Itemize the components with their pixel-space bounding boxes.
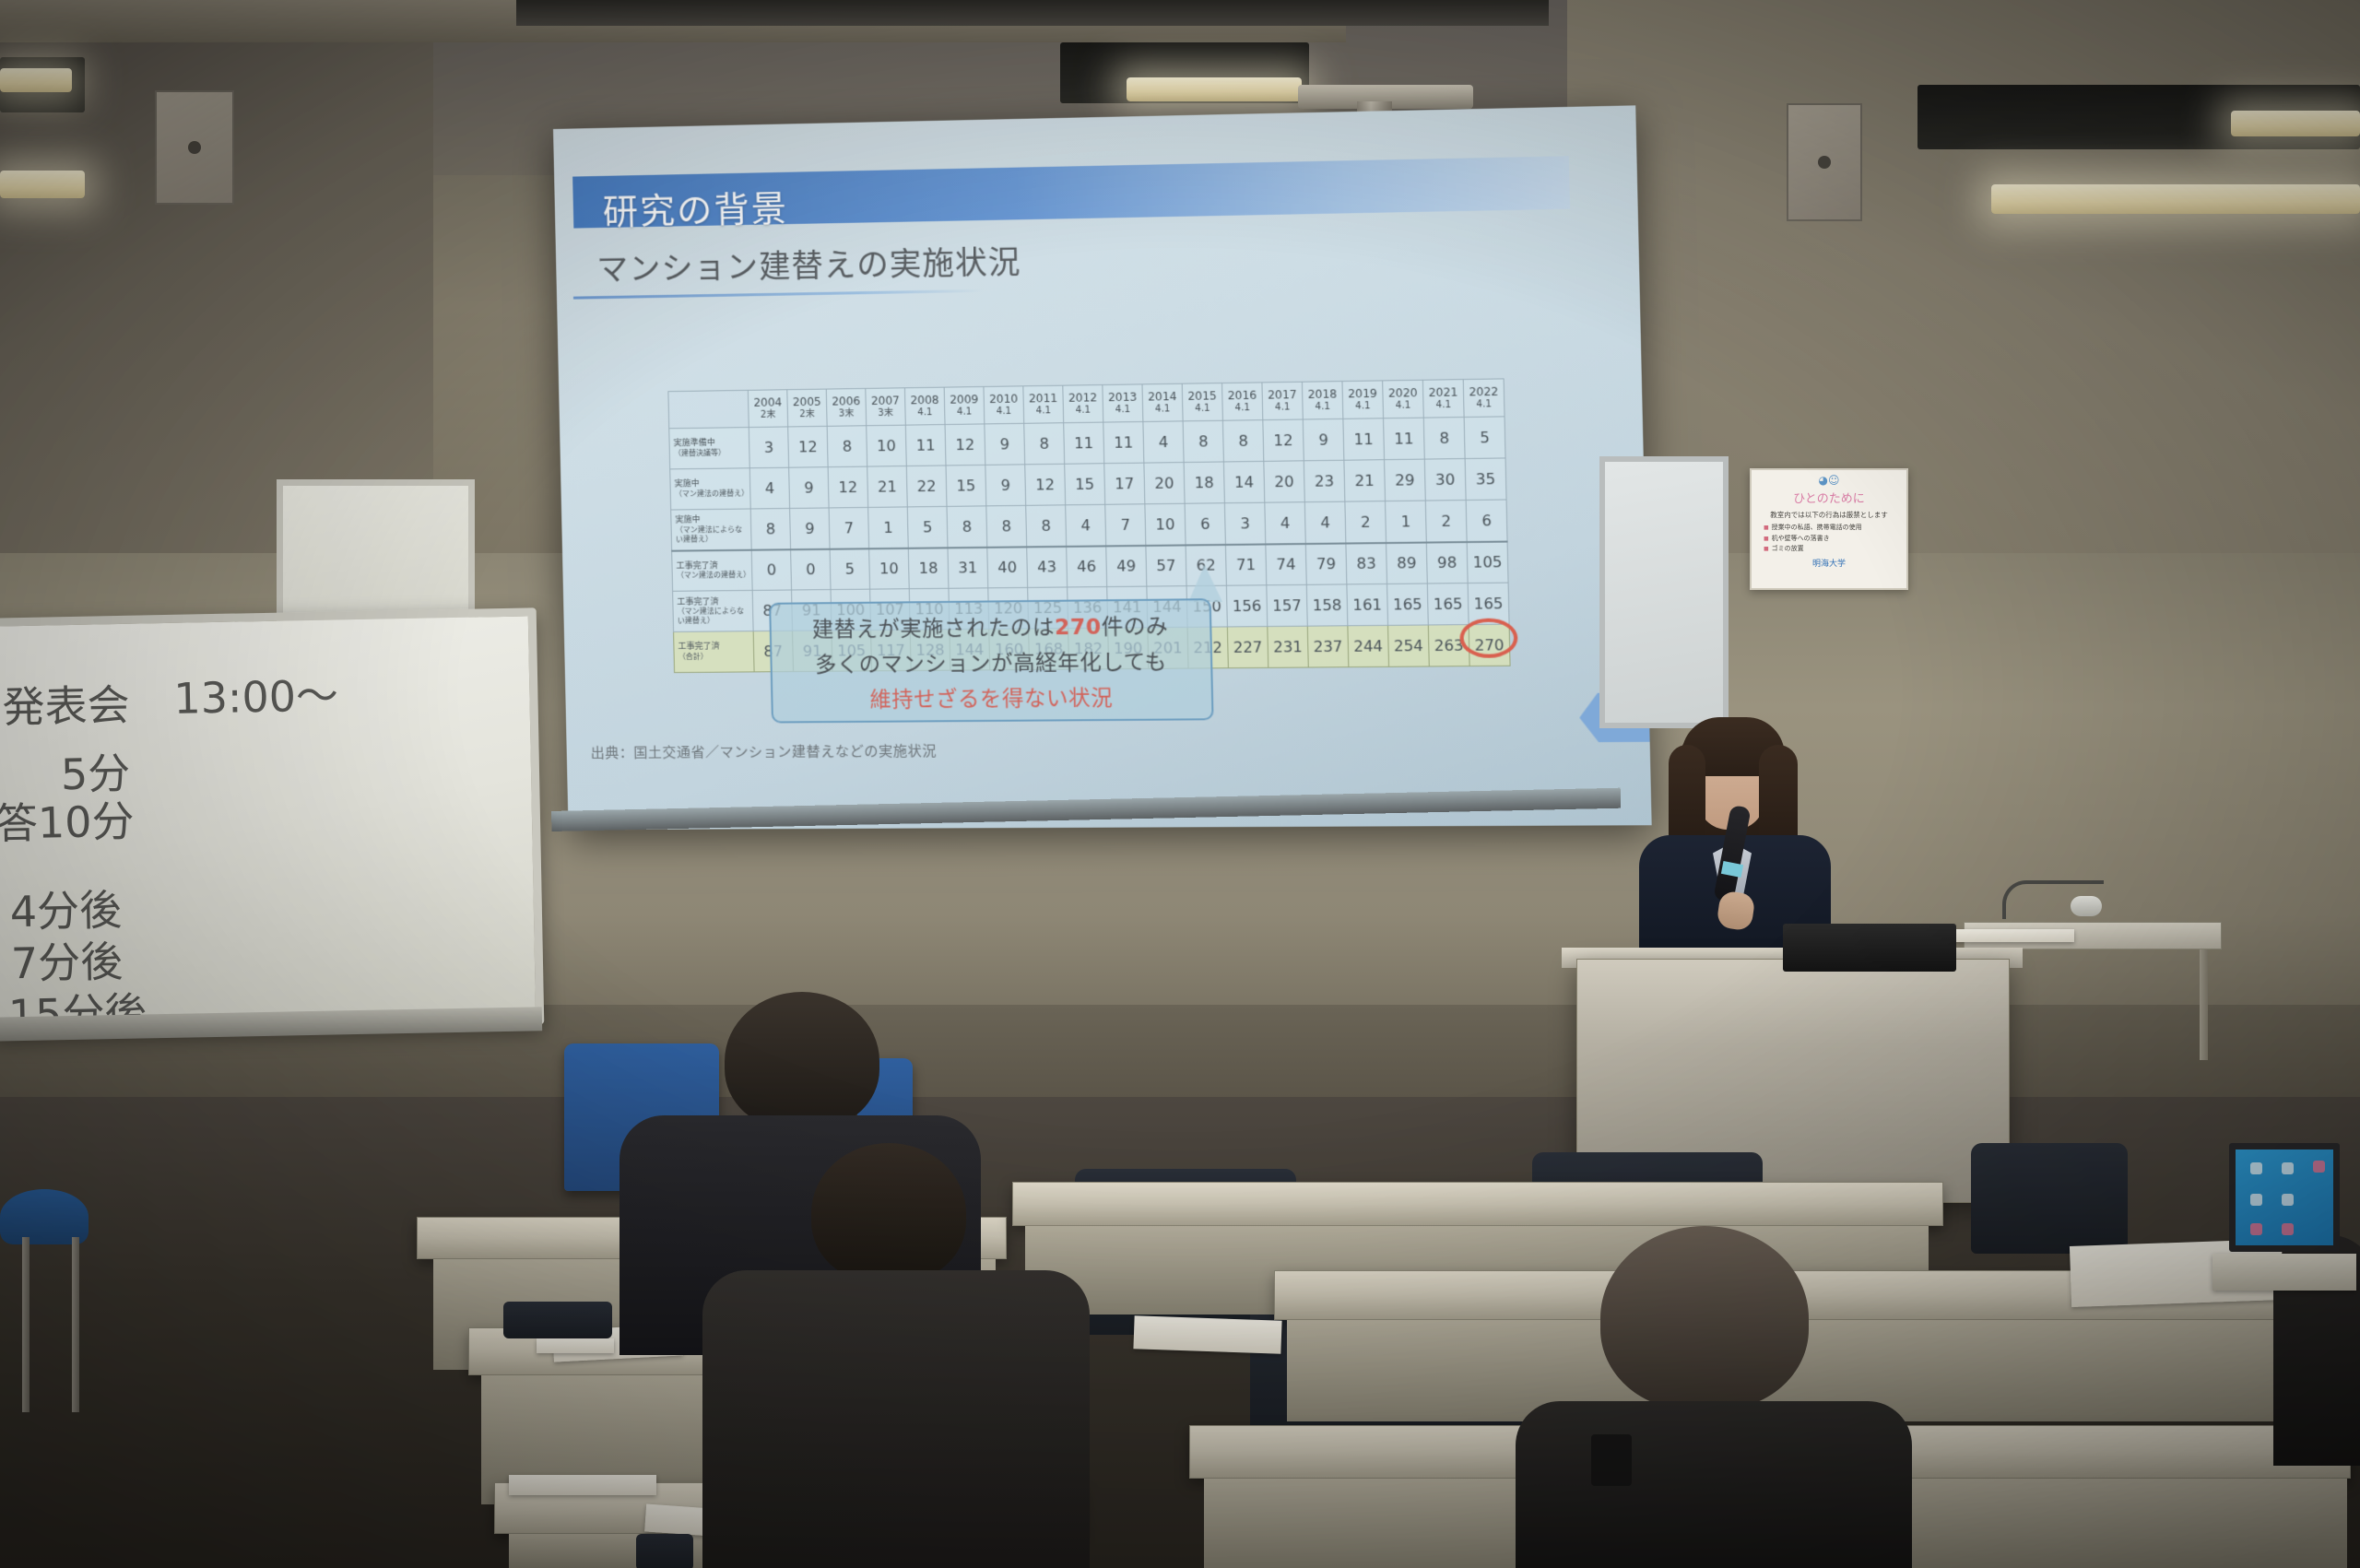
table-row-label: 実施中（マン建法の建替え）	[670, 468, 750, 510]
table-cell: 8	[1183, 420, 1223, 462]
table-cell: 12	[1025, 464, 1066, 505]
callout-line-1: 建替えが実施されたのは270件のみ	[812, 608, 1169, 643]
callout-line-2: 多くのマンションが高経年化しても	[815, 643, 1168, 678]
table-cell: 40	[987, 547, 1028, 588]
table-cell: 12	[788, 426, 828, 467]
table-row-label: 工事完了済（マン建法によらない建替え）	[673, 590, 754, 631]
table-cell: 9	[790, 508, 830, 549]
table-cell: 10	[869, 548, 910, 589]
table-cell: 12	[828, 466, 868, 508]
projection-screen-housing	[516, 0, 1549, 26]
table-cell: 1	[1386, 501, 1427, 542]
wall-speaker-right	[1787, 103, 1862, 221]
table-cell: 71	[1225, 544, 1266, 585]
poster-lead-text: 教室内では以下の行為は厳禁とします	[1758, 510, 1900, 520]
university-logo: 明海大学	[1758, 557, 1900, 569]
audience-head	[1600, 1226, 1809, 1410]
paper-sheet	[1954, 929, 2074, 942]
whiteboard-main: 発表会13:00〜5分答10分4分後7分後15分後	[0, 607, 544, 1034]
whiteboard-right	[1599, 456, 1729, 728]
table-cell: 11	[905, 425, 946, 466]
table-cell: 10	[1145, 503, 1186, 545]
table-cell: 5	[907, 506, 948, 548]
table-cell: 9	[1303, 419, 1344, 460]
podium-monitor	[1783, 924, 1956, 972]
eyeglasses	[1591, 1434, 1632, 1486]
open-laptop	[2229, 1143, 2340, 1252]
owl-face-icon: ◕﻿☺	[1758, 475, 1900, 486]
poster-heading: ひとのために	[1758, 489, 1900, 506]
paper-sheet	[1133, 1315, 1281, 1354]
table-cell: 57	[1146, 545, 1186, 586]
table-cell: 237	[1307, 626, 1349, 667]
table-cell: 74	[1266, 543, 1306, 584]
table-year-header: 20194.1	[1342, 381, 1384, 419]
table-cell: 15	[946, 465, 986, 506]
microphone-head	[2071, 896, 2102, 916]
table-cell: 17	[1104, 463, 1145, 504]
table-cell: 4	[1143, 421, 1184, 463]
table-cell: 89	[1386, 542, 1428, 584]
ceiling-light-tube	[0, 171, 85, 198]
stool-leg	[22, 1237, 29, 1412]
table-cell: 9	[985, 423, 1025, 465]
table-cell: 43	[1027, 546, 1068, 587]
table-cell: 10	[867, 425, 907, 466]
table-cell: 0	[751, 549, 791, 591]
table-year-header: 20042末	[748, 390, 787, 428]
student-desk	[1012, 1182, 1943, 1226]
table-cell: 23	[1304, 460, 1345, 501]
table-cell: 8	[1026, 505, 1067, 547]
callout-line-3: 維持せざるを得ない状況	[869, 679, 1114, 713]
poster-rule-item: 机や壁等への落書き	[1764, 534, 1900, 543]
table-year-header: 20154.1	[1182, 383, 1222, 421]
table-cell: 8	[1222, 420, 1263, 462]
poster-rule-item: 授業中の私語、携帯電話の使用	[1764, 523, 1900, 532]
table-cell: 29	[1385, 459, 1426, 501]
table-cell: 6	[1466, 500, 1507, 542]
ceiling-light-tube	[1991, 184, 2360, 214]
stool	[0, 1189, 88, 1244]
table-cell: 6	[1185, 503, 1225, 545]
table-cell: 8	[1024, 423, 1065, 465]
table-cell: 161	[1347, 584, 1388, 625]
table-cell: 21	[1344, 460, 1386, 501]
subtitle-underline	[573, 289, 983, 300]
table-cell: 8	[986, 505, 1027, 547]
table-cell: 156	[1226, 585, 1267, 627]
table-cell: 3	[1224, 502, 1265, 544]
table-cell: 2	[1345, 501, 1386, 543]
table-year-header: 20094.1	[944, 386, 985, 424]
table-cell: 30	[1424, 459, 1466, 501]
table-corner-cell	[668, 390, 749, 428]
poster-rule-item: ゴミの放置	[1764, 544, 1900, 553]
table-cell: 12	[1263, 419, 1304, 461]
table-cell: 83	[1346, 543, 1387, 584]
table-cell: 46	[1067, 546, 1107, 587]
table-cell: 105	[1467, 541, 1508, 584]
ceiling-light-tube	[1127, 77, 1302, 101]
table-cell: 227	[1227, 627, 1268, 668]
table-cell: 49	[1106, 545, 1147, 586]
table-year-header: 20114.1	[1023, 385, 1064, 423]
table-cell: 22	[906, 466, 947, 507]
slide-title: 研究の背景	[602, 180, 788, 234]
table-year-header: 20164.1	[1222, 383, 1263, 420]
audience-head	[725, 992, 879, 1130]
table-cell: 12	[945, 424, 985, 466]
table-year-header: 20124.1	[1063, 385, 1103, 423]
table-cell: 7	[1105, 504, 1146, 546]
pen	[537, 1338, 614, 1353]
table-year-header: 20224.1	[1463, 379, 1504, 418]
whiteboard-line: 13:00〜	[173, 662, 339, 725]
side-table-leg	[2200, 949, 2208, 1060]
table-row-label: 実施中（マン建法によらない建替え）	[671, 509, 751, 550]
slide-callout-box: 建替えが実施されたのは270件のみ 多くのマンションが高経年化しても 維持せざる…	[769, 598, 1213, 723]
table-year-header: 20052末	[787, 389, 827, 427]
table-year-header: 20063末	[826, 388, 866, 426]
whiteboard-writing: 発表会13:00〜5分答10分4分後7分後15分後	[0, 616, 528, 626]
table-cell: 4	[749, 467, 789, 509]
table-cell: 263	[1428, 625, 1469, 666]
laptop-keyboard	[2212, 1254, 2356, 1291]
slide-source-note: 出典：国土交通省／マンション建替えなどの実施状況	[590, 741, 937, 762]
table-cell: 15	[1065, 464, 1105, 505]
table-cell: 4	[1265, 502, 1305, 544]
table-cell: 0	[791, 548, 831, 590]
table-cell: 11	[1103, 421, 1144, 463]
table-cell: 270	[1469, 624, 1510, 666]
table-cell: 11	[1343, 419, 1385, 460]
audience-head	[811, 1143, 966, 1283]
table-cell: 3	[749, 427, 788, 468]
slide-subtitle: マンション建替えの実施状況	[596, 236, 1021, 289]
table-cell: 165	[1387, 584, 1429, 625]
table-row-label: 工事完了済（マン建法の建替え）	[672, 549, 753, 591]
ceiling-light-tube	[2231, 111, 2360, 136]
table-year-header: 20214.1	[1422, 380, 1464, 419]
table-cell: 8	[750, 508, 790, 549]
lecture-hall-photo: 研究の背景 マンション建替えの実施状況 20042末20052末20063末20…	[0, 0, 2360, 1568]
whiteboard-line: 答10分	[0, 788, 135, 852]
table-cell: 35	[1465, 458, 1506, 501]
table-cell: 4	[1066, 504, 1106, 546]
table-cell: 165	[1468, 583, 1509, 624]
table-cell: 11	[1064, 422, 1104, 464]
table-year-header: 20204.1	[1383, 380, 1424, 418]
table-cell: 18	[1184, 462, 1224, 503]
chair	[1971, 1143, 2128, 1254]
table-cell: 254	[1388, 625, 1430, 666]
table-cell: 20	[1144, 463, 1185, 504]
table-cell: 165	[1427, 584, 1469, 625]
table-row-label: 実施準備中（建替決議等）	[669, 428, 749, 469]
table-cell: 9	[789, 467, 829, 509]
callout-stem	[1187, 564, 1222, 602]
table-cell: 2	[1425, 501, 1467, 543]
table-cell: 9	[985, 465, 1026, 506]
presentation-slide: 研究の背景 マンション建替えの実施状況 20042末20052末20063末20…	[553, 105, 1652, 830]
audience-shoulders	[702, 1270, 1090, 1568]
projection-screen: 研究の背景 マンション建替えの実施状況 20042末20052末20063末20…	[553, 105, 1652, 830]
table-row-label: 工事完了済（合計）	[674, 631, 755, 673]
table-cell: 79	[1305, 543, 1347, 584]
table-cell: 158	[1306, 584, 1348, 626]
eyeglass-case	[503, 1302, 612, 1338]
audience-shoulders	[1516, 1401, 1912, 1568]
stool-leg	[72, 1237, 79, 1412]
smartphone	[636, 1534, 693, 1568]
ceiling-light-tube	[0, 68, 72, 92]
table-cell: 14	[1223, 461, 1264, 502]
table-year-header: 20134.1	[1103, 384, 1143, 422]
table-cell: 31	[948, 547, 988, 588]
table-cell: 244	[1348, 625, 1389, 666]
table-cell: 157	[1267, 584, 1307, 626]
classroom-rules-poster: ◕﻿☺ ひとのために 教室内では以下の行為は厳禁とします 授業中の私語、携帯電話…	[1750, 468, 1908, 590]
table-cell: 7	[829, 507, 869, 548]
table-cell: 18	[908, 548, 949, 589]
table-year-header: 20184.1	[1302, 382, 1342, 419]
table-cell: 20	[1264, 461, 1304, 502]
table-cell: 8	[827, 426, 867, 467]
table-cell: 4	[1304, 501, 1346, 543]
table-cell: 98	[1426, 542, 1468, 584]
wall-speaker-left	[155, 90, 234, 205]
table-cell: 11	[1384, 418, 1425, 460]
table-year-header: 20073末	[866, 388, 906, 426]
whiteboard-line: 発表会	[2, 672, 130, 736]
table-cell: 8	[1423, 418, 1465, 460]
table-cell: 5	[1464, 417, 1505, 459]
table-year-header: 20174.1	[1262, 382, 1303, 419]
table-cell: 1	[868, 507, 909, 548]
table-cell: 21	[867, 466, 908, 508]
table-year-header: 20144.1	[1142, 383, 1183, 421]
table-cell: 8	[947, 506, 987, 548]
table-cell: 5	[830, 548, 870, 590]
table-cell: 231	[1268, 626, 1308, 667]
table-year-header: 20104.1	[984, 386, 1024, 424]
paper-sheet	[509, 1475, 656, 1495]
table-year-header: 20084.1	[904, 387, 945, 425]
